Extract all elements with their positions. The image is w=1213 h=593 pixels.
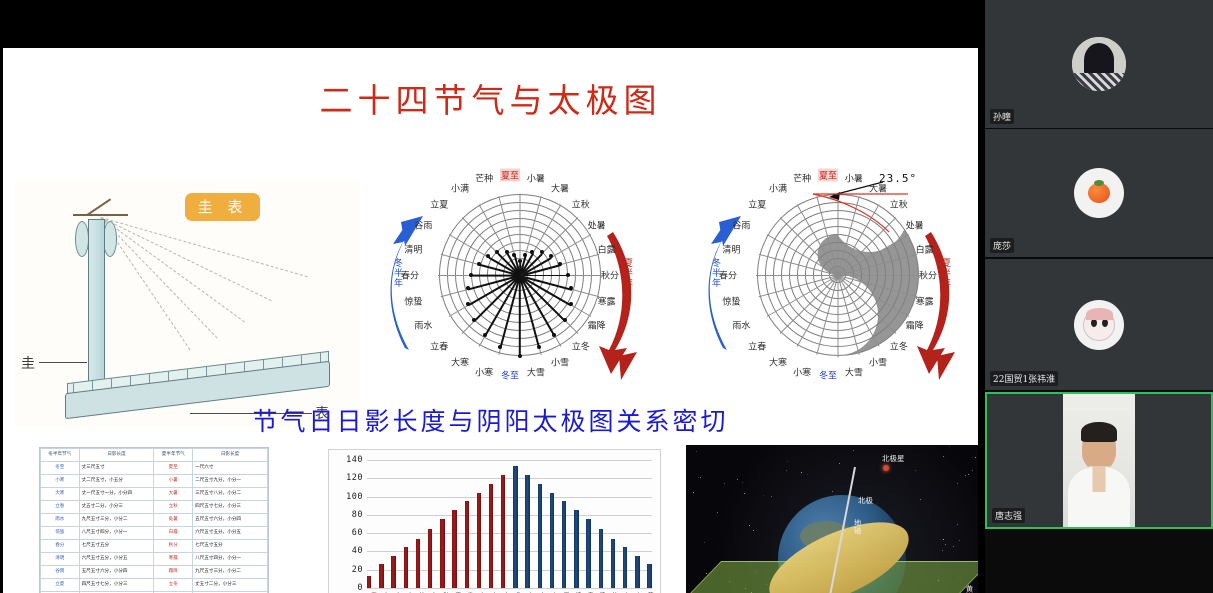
shadow-length-point xyxy=(518,354,522,358)
polaris-label: 北极星 xyxy=(882,453,905,464)
earth-obliquity-video-still: 北极星 北极 地轴 黄道面（地球公转轨道面） 黄赤交角 xyxy=(686,445,978,593)
shadow-length-point xyxy=(530,250,534,254)
table-cell: 大暑 xyxy=(154,488,193,501)
table-cell: 八尺五寸四分，小分一 xyxy=(193,553,268,566)
chart-y-tick-label: 140 xyxy=(331,455,363,465)
solar-term-label: 小暑 xyxy=(527,172,545,185)
table-row: 清明六尺五寸五分，小分五寒露八尺五寸四分，小分一 xyxy=(41,553,268,566)
solar-term-label: 小寒 xyxy=(793,365,811,378)
table-row: 谷雨五尺五寸六分，小分四霜降九尺五寸三分，小分二 xyxy=(41,566,268,579)
solar-term-label: 立秋 xyxy=(572,198,590,211)
solar-term-label: 小雪 xyxy=(869,355,887,368)
chart-bar xyxy=(525,475,529,588)
table-cell: 惊蛰 xyxy=(41,527,80,540)
shadow-length-point xyxy=(466,302,470,306)
polaris-star-icon xyxy=(883,465,889,471)
gnomon-badge: 圭 表 xyxy=(185,193,260,221)
solar-term-label: 春分 xyxy=(719,269,737,282)
solar-term-label: 立秋 xyxy=(890,198,908,211)
earth-axis-label: 地轴 xyxy=(852,519,863,534)
summer-half-arrow-label: 夏半年 xyxy=(621,258,634,288)
participant-name: 庞莎 xyxy=(990,238,1014,253)
chart-bar xyxy=(611,539,615,588)
table-cell: 寒露 xyxy=(154,553,193,566)
grid-spoke xyxy=(837,193,838,275)
chart-bar xyxy=(574,510,578,588)
table-cell: 小寒 xyxy=(41,475,80,488)
taiji-disc xyxy=(755,192,920,357)
gnomon-rod-icon xyxy=(73,214,128,216)
table-cell: 雨水 xyxy=(41,514,80,527)
chart-bar xyxy=(562,501,566,588)
solar-term-label: 冬至 xyxy=(501,369,519,382)
chart-bar xyxy=(538,484,542,588)
shadow-length-bar-chart: 020406080100120140 夏至小暑大暑立秋处暑白露秋分寒露霜降立冬小… xyxy=(328,449,661,593)
table-cell: 八尺五寸四分，小分一 xyxy=(79,527,154,540)
webcam-video xyxy=(1063,394,1135,527)
table-cell: 立春 xyxy=(41,501,80,514)
solar-term-label: 芒种 xyxy=(793,172,811,185)
chart-y-tick-label: 100 xyxy=(331,492,363,502)
solar-term-label: 处暑 xyxy=(588,219,606,232)
shadow-length-point xyxy=(569,286,573,290)
table-cell: 一尺六寸 xyxy=(193,462,268,475)
sun-ray-4 xyxy=(100,217,217,339)
chart-bar xyxy=(586,519,590,588)
shadow-length-point xyxy=(486,254,490,258)
participant-tile-4[interactable]: 唐志强 xyxy=(985,392,1213,529)
chart-gridline xyxy=(367,588,652,589)
solar-term-label: 霜降 xyxy=(588,319,606,332)
grid-spoke xyxy=(756,275,838,276)
table-cell: 四尺五寸七分，小分三 xyxy=(193,501,268,514)
table-row: 冬至丈三尺五寸夏至一尺六寸 xyxy=(41,462,268,475)
shadow-length-point xyxy=(498,345,502,349)
solar-term-label: 谷雨 xyxy=(732,219,750,232)
avatar xyxy=(1074,300,1124,350)
avatar xyxy=(1072,37,1126,91)
shadow-length-point xyxy=(466,286,470,290)
shadow-length-point xyxy=(563,318,567,322)
table-cell: 丈五寸二分，小分三 xyxy=(79,501,154,514)
table-row: 立夏四尺五寸七分，小分三立冬丈五寸二分，小分三 xyxy=(41,579,268,592)
solar-term-label: 冬至 xyxy=(819,369,837,382)
solar-term-label: 秋分 xyxy=(601,269,619,282)
solar-term-label: 大暑 xyxy=(869,182,887,195)
table-cell: 大寒 xyxy=(41,488,80,501)
shadow-length-point xyxy=(477,262,481,266)
chart-bar xyxy=(404,547,408,588)
solar-term-label: 小雪 xyxy=(551,355,569,368)
table-cell: 丈三尺五寸 xyxy=(79,462,154,475)
solar-term-label: 芒种 xyxy=(475,172,493,185)
summer-half-arrow-label-2: 夏半年 xyxy=(939,258,952,288)
gnomon-knot-right-icon xyxy=(103,221,117,257)
table-cell: 三尺五寸八分，小分二 xyxy=(193,488,268,501)
solar-term-label: 白露 xyxy=(916,243,934,256)
shadow-length-point xyxy=(540,250,544,254)
gnomon-illustration: 圭 表 圭 表 xyxy=(15,181,360,429)
solar-term-label: 谷雨 xyxy=(414,219,432,232)
solar-term-label: 大暑 xyxy=(551,182,569,195)
chart-bar xyxy=(635,556,639,588)
solar-term-label: 夏至 xyxy=(818,169,838,182)
participant-tile-1[interactable]: 孙曈 xyxy=(985,0,1213,128)
solar-term-label: 立冬 xyxy=(572,339,590,352)
table-column-header: 夏半年节气 xyxy=(154,449,193,462)
solar-term-label: 立春 xyxy=(748,339,766,352)
table-header-row: 冬半年节气日影长度夏半年节气日影长度 xyxy=(41,449,268,462)
participant-name: 唐志强 xyxy=(992,508,1025,523)
table-cell: 谷雨 xyxy=(41,566,80,579)
table-cell: 冬至 xyxy=(41,462,80,475)
chart-y-tick-label: 120 xyxy=(331,473,363,483)
shadow-length-point xyxy=(483,333,487,337)
table-cell: 立秋 xyxy=(154,501,193,514)
chart-bar xyxy=(440,519,444,588)
chart-bar xyxy=(513,466,517,589)
solar-term-label: 雨水 xyxy=(414,319,432,332)
table-cell: 二尺五寸九分，小分一 xyxy=(193,475,268,488)
table-cell: 七尺五寸五分 xyxy=(79,540,154,553)
table-cell: 秋分 xyxy=(154,540,193,553)
solar-term-label: 小满 xyxy=(769,182,787,195)
table-cell: 六尺五寸五分，小分五 xyxy=(193,527,268,540)
chart-y-tick-label: 40 xyxy=(331,546,363,556)
table-cell: 五尺五寸六分，小分四 xyxy=(193,514,268,527)
table-cell: 春分 xyxy=(41,540,80,553)
north-pole-label: 北极 xyxy=(858,495,873,506)
chart-bars xyxy=(367,460,652,588)
chart-bar xyxy=(477,493,481,588)
chart-bar xyxy=(416,539,420,588)
shadow-length-ray xyxy=(519,275,521,356)
solar-term-label: 小暑 xyxy=(845,172,863,185)
table-cell: 九尺五寸三分，小分二 xyxy=(79,514,154,527)
solar-term-label: 雨水 xyxy=(732,319,750,332)
solar-term-label: 春分 xyxy=(401,269,419,282)
solar-term-label: 大雪 xyxy=(527,365,545,378)
solar-term-label: 立冬 xyxy=(890,339,908,352)
gnomon-knot-left-icon xyxy=(75,221,89,257)
solar-term-label: 小满 xyxy=(451,182,469,195)
chart-bar xyxy=(647,564,651,588)
avatar xyxy=(1074,168,1124,218)
table-cell: 处暑 xyxy=(154,514,193,527)
table-row: 惊蛰八尺五寸四分，小分一白露六尺五寸五分，小分五 xyxy=(41,527,268,540)
solar-term-label: 立夏 xyxy=(430,198,448,211)
table-cell: 清明 xyxy=(41,553,80,566)
shadow-length-point xyxy=(552,333,556,337)
shadow-length-point xyxy=(549,254,553,258)
table-row: 雨水九尺五寸三分，小分二处暑五尺五寸六分，小分四 xyxy=(41,514,268,527)
shadow-length-point xyxy=(469,273,473,277)
slide-subtitle: 节气日日影长度与阴阳太极图关系密切 xyxy=(3,402,978,438)
shadow-length-table: 冬半年节气日影长度夏半年节气日影长度 冬至丈三尺五寸夏至一尺六寸小寒丈二尺五寸，… xyxy=(39,447,269,593)
table-cell: 丈二尺五寸，小五分 xyxy=(79,475,154,488)
shadow-length-point xyxy=(537,345,541,349)
shadow-length-point xyxy=(566,273,570,277)
table-cell: 夏至 xyxy=(154,462,193,475)
solar-term-label: 夏至 xyxy=(500,169,520,182)
table-row: 春分七尺五寸五分秋分七尺五寸五分 xyxy=(41,540,268,553)
shared-slide: 二十四节气与太极图 圭 表 圭 表 冬半年 夏半年 xyxy=(3,48,978,593)
taiji-radial-diagram: 23.5° 冬半年 夏半年 夏至小暑大暑立秋处暑白露秋分寒露霜降立冬小雪大雪冬至… xyxy=(693,170,963,400)
shadow-length-point xyxy=(495,250,499,254)
table-cell: 丈五寸二分，小分三 xyxy=(193,579,268,592)
meeting-screen: 二十四节气与太极图 圭 表 圭 表 冬半年 夏半年 xyxy=(0,0,1213,593)
table-column-header: 冬半年节气 xyxy=(41,449,80,462)
table-cell: 九尺五寸三分，小分二 xyxy=(193,566,268,579)
table-cell: 小暑 xyxy=(154,475,193,488)
solar-term-radial-diagram: 冬半年 夏半年 夏至小暑大暑立秋处暑白露秋分寒露霜降立冬小雪大雪冬至小寒大寒立春… xyxy=(375,170,645,400)
chart-plot-area xyxy=(367,460,652,588)
shadow-length-point xyxy=(512,253,516,257)
solar-term-label: 小寒 xyxy=(475,365,493,378)
solar-term-label: 大寒 xyxy=(769,355,787,368)
solar-term-label: 惊蛰 xyxy=(404,294,422,307)
participant-tile-3[interactable]: 22国贸1张祎淮 xyxy=(985,259,1213,390)
chart-y-tick-label: 0 xyxy=(331,583,363,593)
table-column-header: 日影长度 xyxy=(193,449,268,462)
shadow-length-point xyxy=(505,250,509,254)
solar-term-label: 清明 xyxy=(722,243,740,256)
gnomon-label-gui: 圭 xyxy=(21,353,35,373)
sun-ray-3 xyxy=(100,217,245,322)
gnomon-pillar-icon xyxy=(88,219,105,387)
table-row: 小寒丈二尺五寸，小五分小暑二尺五寸九分，小分一 xyxy=(41,475,268,488)
chart-bar xyxy=(452,510,456,588)
table-column-header: 日影长度 xyxy=(79,449,154,462)
solar-term-label: 秋分 xyxy=(919,269,937,282)
solar-term-label: 白露 xyxy=(598,243,616,256)
gnomon-leader-left xyxy=(39,362,87,363)
table-cell: 立夏 xyxy=(41,579,80,592)
shadow-length-point xyxy=(472,318,476,322)
chart-bar xyxy=(465,501,469,588)
table-row: 立春丈五寸二分，小分三立秋四尺五寸七分，小分三 xyxy=(41,501,268,514)
table-cell: 丈一尺五寸一分，小分四 xyxy=(79,488,154,501)
table-body: 冬至丈三尺五寸夏至一尺六寸小寒丈二尺五寸，小五分小暑二尺五寸九分，小分一大寒丈一… xyxy=(41,462,268,593)
table-cell: 六尺五寸五分，小分五 xyxy=(79,553,154,566)
chart-bar xyxy=(391,556,395,588)
table-row: 大寒丈一尺五寸一分，小分四大暑三尺五寸八分，小分二 xyxy=(41,488,268,501)
shadow-length-point xyxy=(518,259,522,263)
solar-term-label: 立春 xyxy=(430,339,448,352)
solar-term-label: 清明 xyxy=(404,243,422,256)
solar-term-label: 立夏 xyxy=(748,198,766,211)
solar-term-label: 大寒 xyxy=(451,355,469,368)
obliquity-label: 黄赤交角 xyxy=(964,585,975,593)
chart-bar xyxy=(599,529,603,588)
solar-term-label: 寒露 xyxy=(916,294,934,307)
participant-rail[interactable]: 孙曈庞莎22国贸1张祎淮唐志强 xyxy=(985,0,1213,593)
chart-bar xyxy=(379,564,383,588)
shadow-length-point xyxy=(569,302,573,306)
page-title: 二十四节气与太极图 xyxy=(3,74,978,122)
solar-term-label: 霜降 xyxy=(906,319,924,332)
grid-spoke xyxy=(838,275,920,276)
participant-tile-2[interactable]: 庞莎 xyxy=(985,129,1213,257)
solar-term-label: 寒露 xyxy=(598,294,616,307)
table-cell: 五尺五寸六分，小分四 xyxy=(79,566,154,579)
grid-spoke xyxy=(837,275,838,357)
chart-bar xyxy=(489,484,493,588)
participant-name: 22国贸1张祎淮 xyxy=(990,371,1058,386)
participant-name: 孙曈 xyxy=(990,109,1014,124)
chart-bar xyxy=(428,529,432,588)
solar-term-label: 大雪 xyxy=(845,365,863,378)
shadow-length-point xyxy=(523,253,527,257)
chart-bar xyxy=(550,493,554,588)
solar-term-label: 惊蛰 xyxy=(722,294,740,307)
chart-y-tick-label: 60 xyxy=(331,528,363,538)
table-cell: 四尺五寸七分，小分三 xyxy=(79,579,154,592)
chart-bar xyxy=(501,475,505,588)
table-cell: 立冬 xyxy=(154,579,193,592)
radial-disc xyxy=(437,192,602,357)
solar-term-label: 处暑 xyxy=(906,219,924,232)
table-cell: 白露 xyxy=(154,527,193,540)
chart-y-tick-label: 80 xyxy=(331,510,363,520)
table-cell: 霜降 xyxy=(154,566,193,579)
table-cell: 七尺五寸五分 xyxy=(193,540,268,553)
shadow-length-point xyxy=(558,262,562,266)
chart-bar xyxy=(367,576,371,588)
chart-bar xyxy=(623,547,627,588)
chart-y-tick-label: 20 xyxy=(331,565,363,575)
